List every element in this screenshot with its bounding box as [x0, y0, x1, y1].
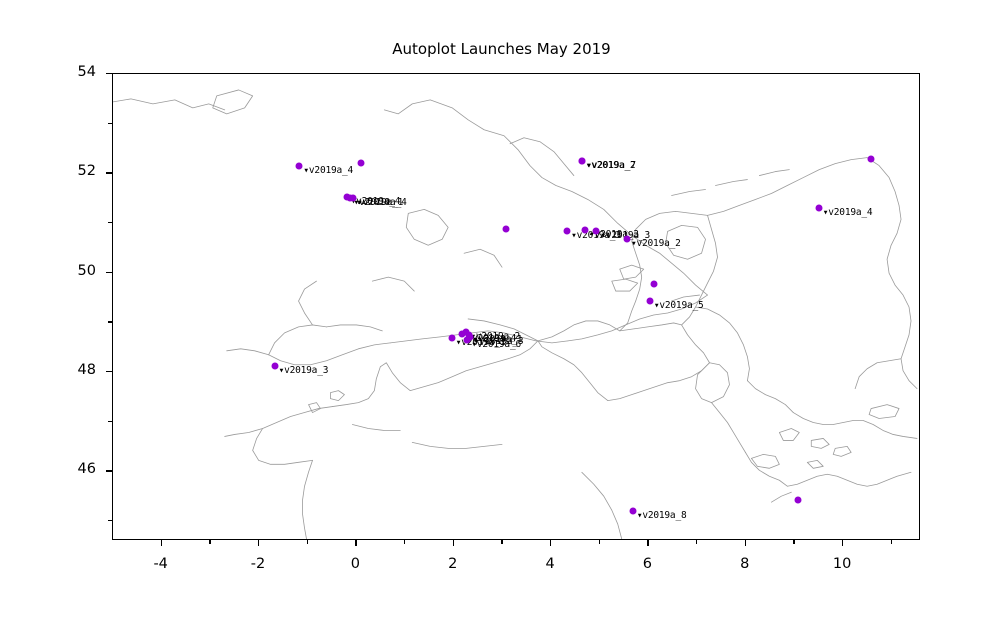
y-axis-tick [106, 371, 112, 372]
y-axis-minor-tick [108, 321, 112, 322]
page-title: Autoplot Launches May 2019 [0, 40, 1003, 58]
data-point[interactable] [271, 363, 278, 370]
data-point[interactable] [795, 497, 802, 504]
data-point[interactable] [623, 235, 630, 242]
x-axis-tick-label: 4 [520, 556, 580, 572]
x-axis-tick-label: 8 [715, 556, 775, 572]
x-axis-tick [355, 540, 356, 546]
data-point[interactable] [815, 205, 822, 212]
x-axis-tick [453, 540, 454, 546]
data-point[interactable] [448, 335, 455, 342]
y-axis-tick-label: 52 [38, 163, 96, 179]
x-axis-minor-tick [696, 540, 697, 544]
x-axis-tick-label: 10 [812, 556, 872, 572]
y-axis-minor-tick [108, 421, 112, 422]
y-axis-tick [106, 470, 112, 471]
data-point-label: ▾v2019a_6 [471, 339, 521, 350]
data-point[interactable] [578, 158, 585, 165]
x-axis-tick [647, 540, 648, 546]
data-point[interactable] [629, 508, 636, 515]
x-axis-tick [842, 540, 843, 546]
x-axis-minor-tick [501, 540, 502, 544]
data-point-label: ▾v2019a_4 [357, 197, 407, 208]
y-axis-tick [106, 272, 112, 273]
x-axis-tick-label: -2 [228, 556, 288, 572]
x-axis-minor-tick [793, 540, 794, 544]
data-point[interactable] [296, 163, 303, 170]
x-axis-tick-label: 2 [423, 556, 483, 572]
x-axis-tick [258, 540, 259, 546]
x-axis-minor-tick [599, 540, 600, 544]
data-point[interactable] [503, 225, 510, 232]
x-axis-tick-label: -4 [131, 556, 191, 572]
x-axis-minor-tick [209, 540, 210, 544]
data-point[interactable] [349, 195, 356, 202]
y-axis-tick-label: 50 [38, 263, 96, 279]
y-axis-tick [106, 73, 112, 74]
data-point-label: ▾v2019a_5 [654, 300, 704, 311]
data-point[interactable] [582, 227, 589, 234]
y-axis-minor-tick [108, 222, 112, 223]
y-axis-tick [106, 172, 112, 173]
data-point[interactable] [358, 160, 365, 167]
x-axis-tick [745, 540, 746, 546]
y-axis-minor-tick [108, 123, 112, 124]
x-axis-minor-tick [404, 540, 405, 544]
data-point-label: ▾v2019a_2 [631, 238, 681, 249]
data-point-label: ▾v2019a_4 [823, 207, 873, 218]
y-axis-tick-label: 46 [38, 461, 96, 477]
data-point-label: ▾v2019a_3 [279, 365, 329, 376]
x-axis-tick [161, 540, 162, 546]
x-axis-minor-tick [891, 540, 892, 544]
data-point[interactable] [650, 281, 657, 288]
data-point[interactable] [464, 337, 471, 344]
data-point[interactable] [646, 297, 653, 304]
data-point[interactable] [593, 227, 600, 234]
x-axis-minor-tick [307, 540, 308, 544]
y-axis-minor-tick [108, 520, 112, 521]
data-point-label: ▾v2019a_8 [637, 510, 687, 521]
basemap-coastlines [113, 74, 919, 539]
data-point[interactable] [564, 227, 571, 234]
plot-area[interactable] [112, 73, 920, 540]
x-axis-tick-label: 0 [325, 556, 385, 572]
figure-canvas: Autoplot Launches May 2019 [0, 0, 1003, 633]
x-axis-tick [550, 540, 551, 546]
data-point-label: ▾v2019a_2 [586, 160, 636, 171]
x-axis-tick-label: 6 [617, 556, 677, 572]
data-point-label: ▾v2019a_4 [303, 165, 353, 176]
y-axis-tick-label: 54 [38, 64, 96, 80]
data-point[interactable] [868, 156, 875, 163]
y-axis-tick-label: 48 [38, 362, 96, 378]
